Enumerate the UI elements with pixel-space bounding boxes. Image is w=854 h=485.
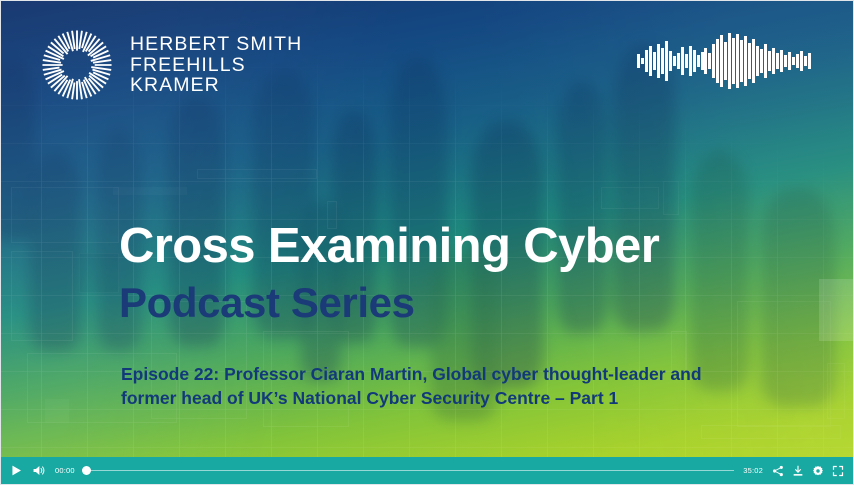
volume-icon xyxy=(32,464,46,477)
fullscreen-icon xyxy=(832,465,844,477)
waveform-bar xyxy=(701,52,704,70)
waveform-bar xyxy=(780,50,783,72)
page-title: Cross Examining Cyber xyxy=(119,219,819,274)
right-controls xyxy=(772,465,844,477)
waveform-bar xyxy=(772,48,775,74)
waveform-bar xyxy=(748,43,751,79)
player-controls[interactable]: 00:00 35:02 xyxy=(1,457,853,484)
waveform-bar xyxy=(708,53,711,69)
download-button[interactable] xyxy=(792,465,804,477)
waveform-bar xyxy=(808,53,811,69)
progress-handle[interactable] xyxy=(82,466,91,475)
waveform-bar xyxy=(665,41,668,81)
total-time: 35:02 xyxy=(743,466,763,475)
share-button[interactable] xyxy=(772,465,784,477)
sunburst-radial-logo xyxy=(41,29,113,101)
settings-button[interactable] xyxy=(812,465,824,477)
waveform-bar xyxy=(685,54,688,68)
waveform-bar xyxy=(752,39,755,83)
waveform-bar xyxy=(756,46,759,76)
waveform-bar xyxy=(740,40,743,82)
waveform-bar xyxy=(669,51,672,71)
waveform-bar xyxy=(800,51,803,71)
waveform-bar xyxy=(677,53,680,69)
play-button[interactable] xyxy=(10,464,23,477)
hero-text-block: Cross Examining Cyber Podcast Series xyxy=(119,219,819,328)
waveform-bar xyxy=(649,46,652,76)
waveform-bar xyxy=(724,42,727,80)
video-player[interactable]: HERBERT SMITH FREEHILLS KRAMER Cross Exa… xyxy=(0,0,854,485)
brand-name: HERBERT SMITH FREEHILLS KRAMER xyxy=(130,29,302,96)
progress-track[interactable] xyxy=(84,470,734,472)
waveform-bar xyxy=(784,55,787,67)
episode-label: Episode 22: xyxy=(121,364,219,384)
waveform-bar xyxy=(732,38,735,84)
waveform-bar xyxy=(804,56,807,66)
waveform-bar xyxy=(704,48,707,74)
waveform-bar xyxy=(641,58,644,64)
current-time: 00:00 xyxy=(55,466,75,475)
waveform-bar xyxy=(744,36,747,86)
waveform-bar xyxy=(712,44,715,78)
audio-waveform xyxy=(637,33,811,89)
waveform-bar xyxy=(681,47,684,75)
gear-icon xyxy=(812,465,824,477)
waveform-bar xyxy=(716,39,719,83)
waveform-bar xyxy=(788,52,791,70)
waveform-bar xyxy=(736,34,739,88)
waveform-bar xyxy=(764,44,767,78)
fullscreen-button[interactable] xyxy=(832,465,844,477)
page-subtitle: Podcast Series xyxy=(119,278,819,328)
play-icon xyxy=(10,464,23,477)
download-icon xyxy=(792,465,804,477)
waveform-bar xyxy=(760,49,763,73)
waveform-bar xyxy=(776,53,779,69)
waveform-bar xyxy=(728,33,731,89)
background-right-panel xyxy=(819,279,854,341)
waveform-bar xyxy=(720,35,723,87)
progress-scrubber[interactable] xyxy=(84,465,734,476)
waveform-bar xyxy=(645,50,648,72)
volume-button[interactable] xyxy=(32,464,46,477)
waveform-bar xyxy=(661,48,664,74)
waveform-bar xyxy=(693,50,696,72)
waveform-bar xyxy=(689,46,692,76)
waveform-bar xyxy=(673,56,676,66)
share-icon xyxy=(772,465,784,477)
waveform-bar xyxy=(697,55,700,67)
episode-description: Episode 22: Professor Ciaran Martin, Glo… xyxy=(121,363,741,410)
brand-logo: HERBERT SMITH FREEHILLS KRAMER xyxy=(41,29,302,101)
waveform-bar xyxy=(653,52,656,70)
waveform-bar xyxy=(637,54,640,68)
waveform-bar xyxy=(792,57,795,65)
waveform-bar xyxy=(796,54,799,68)
waveform-bar xyxy=(657,44,660,78)
waveform-bar xyxy=(768,51,771,71)
